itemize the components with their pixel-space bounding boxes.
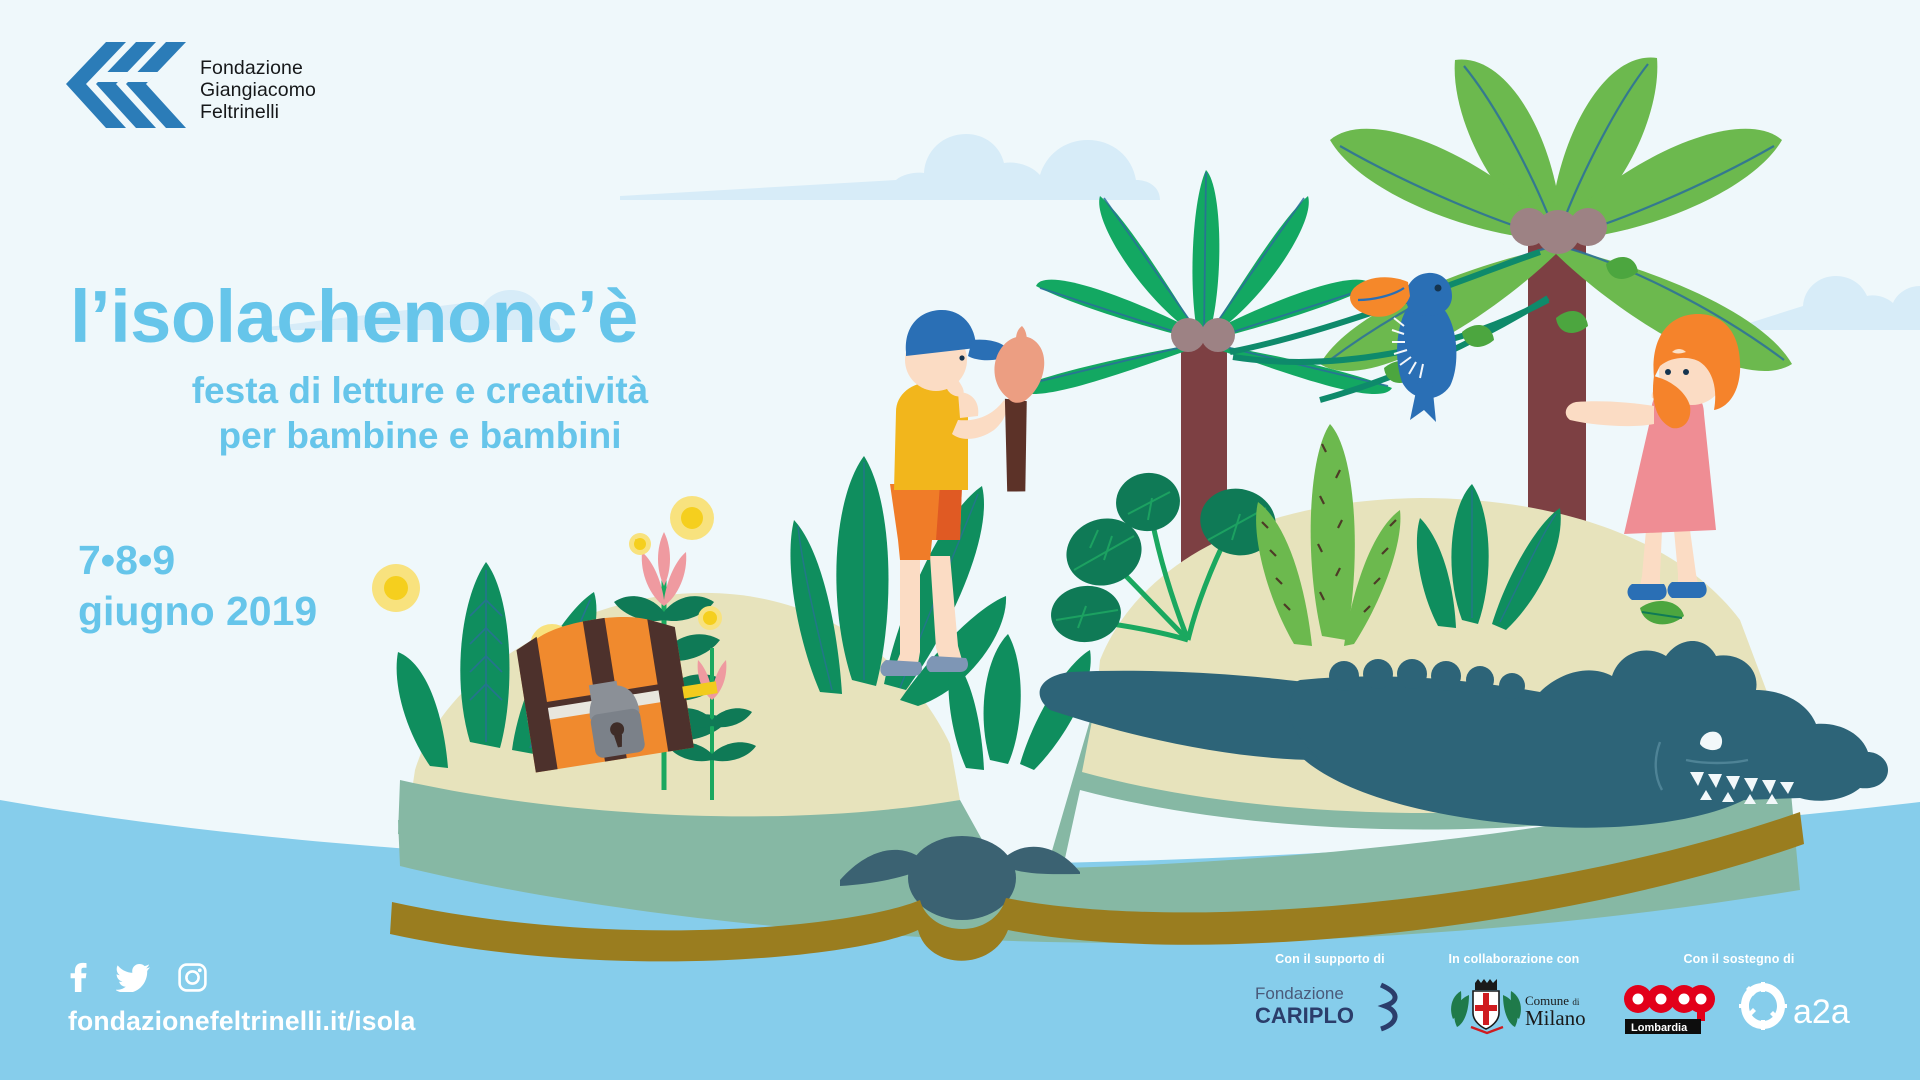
sponsor-group-collaborazione: In collaborazione con xyxy=(1439,952,1589,1035)
event-month-year: giugno 2019 xyxy=(78,586,317,637)
a2a-logo[interactable]: a2a xyxy=(1737,981,1855,1033)
instagram-icon[interactable] xyxy=(178,963,207,992)
sponsor-group-label: Con il supporto di xyxy=(1275,952,1385,966)
comune-di-milano-logo[interactable]: Comune di Milano xyxy=(1439,979,1589,1035)
sponsor-group-label: Con il sostegno di xyxy=(1683,952,1794,966)
brand-logo[interactable]: Fondazione Giangiacomo Feltrinelli xyxy=(66,36,316,146)
svg-text:Lombardia: Lombardia xyxy=(1631,1022,1688,1034)
brand-logo-text: Fondazione Giangiacomo Feltrinelli xyxy=(200,58,316,123)
sponsors-bar: Con il supporto di Fondazione CARIPLO In… xyxy=(1255,952,1855,1035)
coconut xyxy=(1171,318,1205,352)
sponsor-logo-list: Comune di Milano xyxy=(1439,979,1589,1035)
fondazione-cariplo-logo[interactable]: Fondazione CARIPLO xyxy=(1255,979,1405,1033)
sponsor-group-supporto: Con il supporto di Fondazione CARIPLO xyxy=(1255,952,1405,1033)
page-title: l’isolachenonc’è xyxy=(70,280,910,354)
social-links xyxy=(68,962,416,992)
event-days: 7•8•9 xyxy=(78,535,317,586)
svg-text:Fondazione: Fondazione xyxy=(1255,984,1344,1003)
event-dates: 7•8•9 giugno 2019 xyxy=(78,535,317,638)
twitter-icon[interactable] xyxy=(116,962,150,992)
coop-lombardia-logo[interactable]: Lombardia xyxy=(1623,979,1715,1035)
poster: Fondazione Giangiacomo Feltrinelli l’iso… xyxy=(0,0,1920,1080)
sponsor-group-label: In collaborazione con xyxy=(1449,952,1580,966)
headline-block: l’isolachenonc’è festa di letture e crea… xyxy=(70,280,910,458)
svg-text:a2a: a2a xyxy=(1793,993,1850,1031)
coconut xyxy=(1569,208,1607,246)
footer-left: fondazionefeltrinelli.it/isola xyxy=(68,962,416,1037)
website-link[interactable]: fondazionefeltrinelli.it/isola xyxy=(68,1006,416,1037)
facebook-icon[interactable] xyxy=(68,962,88,992)
feltrinelli-chevrons-logo xyxy=(66,36,186,146)
coconut xyxy=(1201,318,1235,352)
sponsor-logo-list: Fondazione CARIPLO xyxy=(1255,979,1405,1033)
sponsor-logo-list: Lombardia a2a xyxy=(1623,979,1855,1035)
sponsor-group-sostegno: Con il sostegno di xyxy=(1623,952,1855,1035)
svg-text:CARIPLO: CARIPLO xyxy=(1255,1003,1354,1028)
svg-text:Milano: Milano xyxy=(1525,1006,1586,1030)
page-subtitle: festa di letture e creatività per bambin… xyxy=(70,368,770,458)
